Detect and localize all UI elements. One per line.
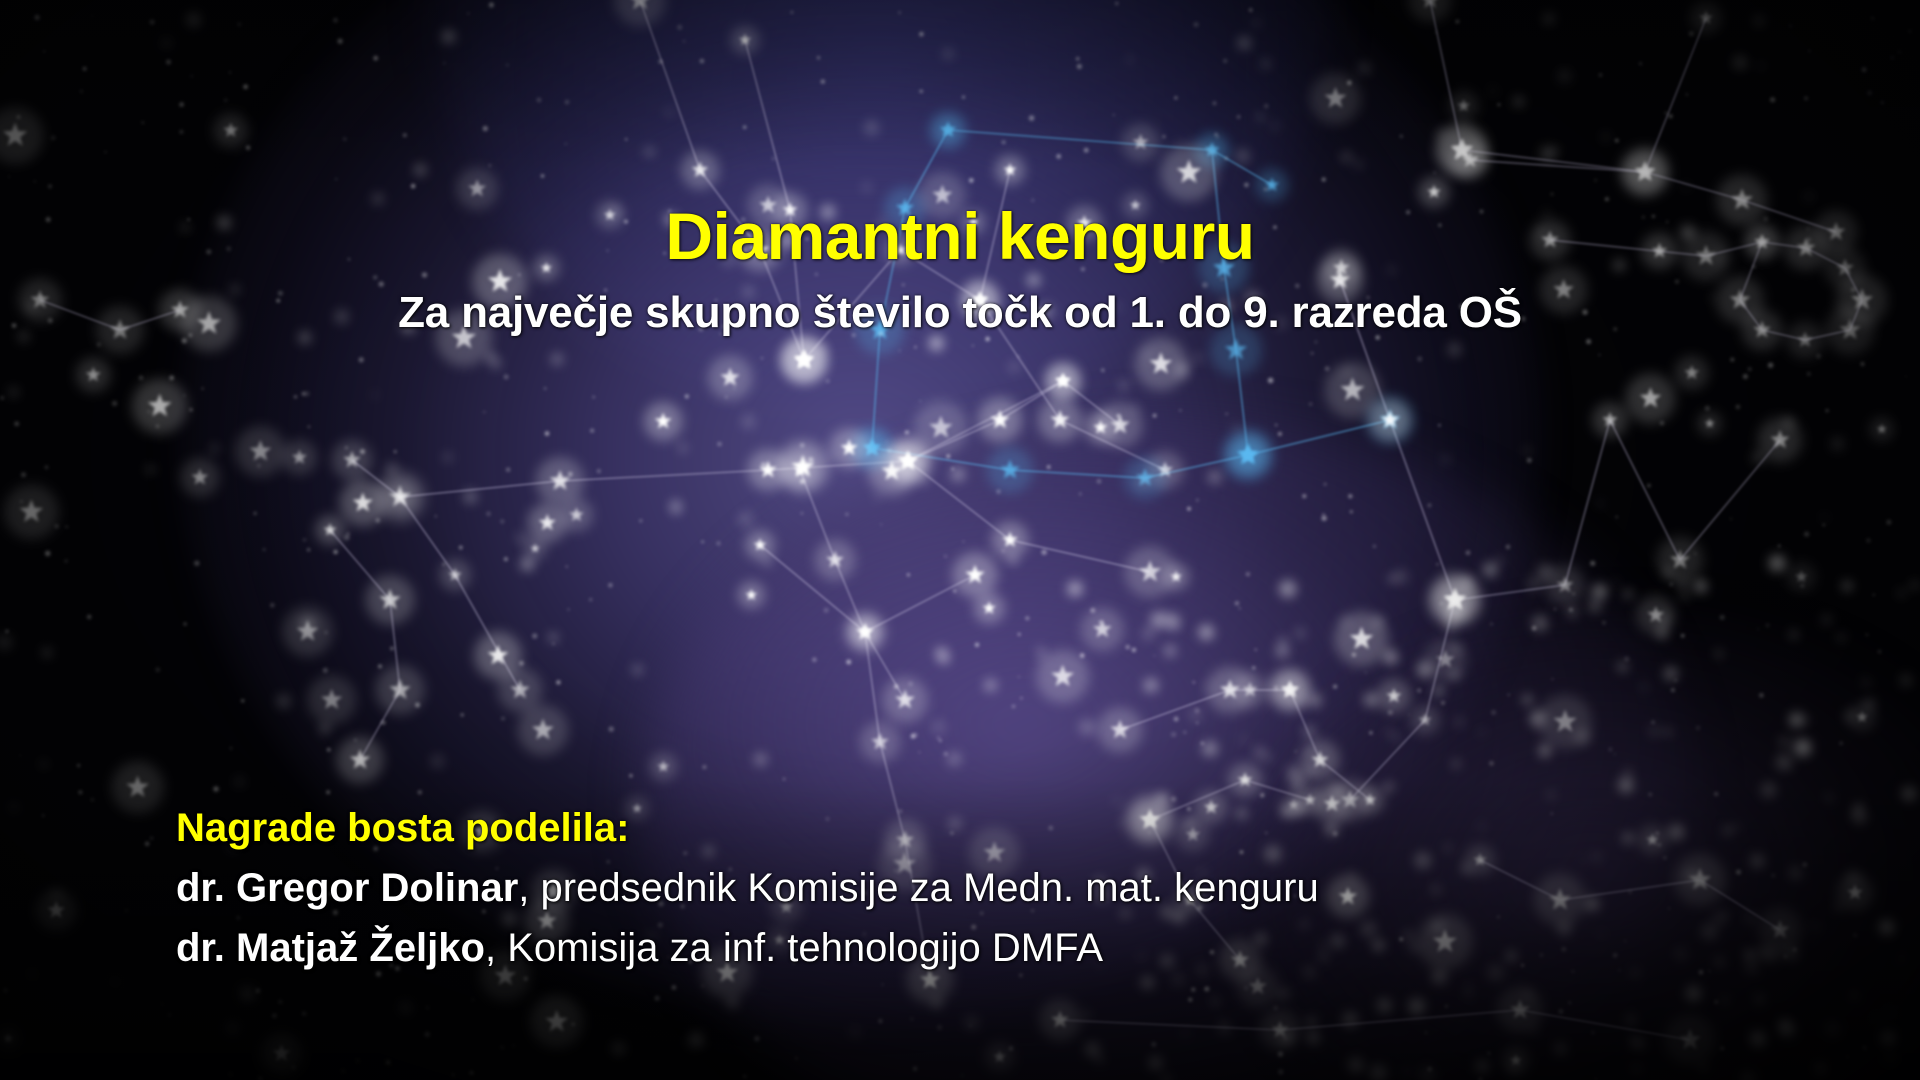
credits-heading: Nagrade bosta podelila: (176, 808, 1319, 848)
credits-person-1: dr. Gregor Dolinar, predsednik Komisije … (176, 868, 1319, 908)
credits-person-2-name: dr. Matjaž Željko (176, 926, 485, 970)
page-subtitle: Za največje skupno število točk od 1. do… (0, 288, 1920, 338)
page-title: Diamantni kenguru (0, 198, 1920, 274)
credits-person-2-role: , Komisija za inf. tehnologijo DMFA (485, 926, 1103, 970)
credits-person-2: dr. Matjaž Željko, Komisija za inf. tehn… (176, 928, 1319, 968)
credits-block: Nagrade bosta podelila: dr. Gregor Dolin… (176, 808, 1319, 988)
slide-canvas: Diamantni kenguru Za največje skupno šte… (0, 0, 1920, 1080)
credits-person-1-name: dr. Gregor Dolinar (176, 866, 518, 910)
credits-person-1-role: , predsednik Komisije za Medn. mat. keng… (518, 866, 1318, 910)
